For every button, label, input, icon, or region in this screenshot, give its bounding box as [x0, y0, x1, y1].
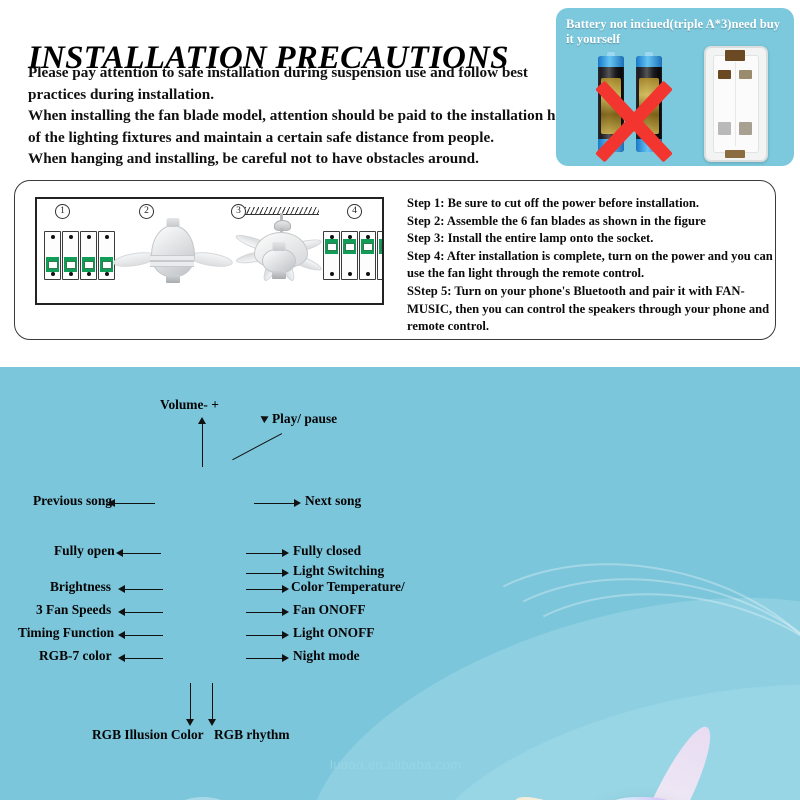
callout-fully-closed: Fully closed	[293, 543, 361, 559]
battery-holder-icon	[704, 46, 768, 162]
callout-volume: Volume- +	[160, 397, 219, 413]
leader-line	[212, 683, 213, 719]
precautions-body: Please pay attention to safe installatio…	[28, 62, 588, 170]
leader-arrow	[198, 417, 206, 424]
circuit-breakers-on-icon	[323, 231, 384, 280]
callout-rgb-rhythm: RGB rhythm	[214, 727, 290, 743]
figure-number: 3	[231, 204, 246, 219]
leader-arrow	[282, 585, 289, 593]
callout-previous-song: Previous song	[33, 493, 112, 509]
leader-arrow	[118, 585, 125, 593]
leader-line	[232, 433, 282, 461]
leader-line	[202, 423, 203, 467]
precaution-line: When installing the fan blade model, att…	[28, 105, 588, 148]
leader-line	[123, 553, 161, 554]
leader-arrow	[282, 654, 289, 662]
leader-line	[246, 635, 284, 636]
leader-arrow	[118, 654, 125, 662]
leader-line	[254, 503, 296, 504]
leader-arrow	[118, 608, 125, 616]
leader-arrow	[108, 499, 115, 507]
leader-arrow	[208, 719, 216, 726]
remote-showcase-section: luoao.en.alibaba.com ▼ ▲ ⏮ ⏭ ⏯	[0, 367, 800, 800]
leader-arrow	[282, 608, 289, 616]
leader-line	[125, 589, 163, 590]
leader-line	[125, 658, 163, 659]
steps-section: 1 2	[0, 172, 800, 367]
steps-text: Step 1: Be sure to cut off the power bef…	[407, 195, 785, 336]
leader-line	[125, 635, 163, 636]
step-item: Step 3: Install the entire lamp onto the…	[407, 230, 785, 248]
step-item: Step 1: Be sure to cut off the power bef…	[407, 195, 785, 213]
callout-fully-open: Fully open	[54, 543, 115, 559]
callout-3-fan-speeds: 3 Fan Speeds	[36, 602, 111, 618]
leader-arrow	[118, 631, 125, 639]
figure-number: 1	[55, 204, 70, 219]
leader-line	[246, 612, 284, 613]
leader-line	[115, 503, 155, 504]
leader-arrow	[282, 631, 289, 639]
steps-frame: 1 2	[14, 180, 776, 340]
callout-rgb-illusion-color: RGB Illusion Color	[92, 727, 204, 743]
leader-line	[246, 553, 284, 554]
callout-brightness: Brightness	[50, 579, 111, 595]
watermark: luoao.en.alibaba.com	[330, 757, 462, 772]
callout-color-temperature: Color Temperature/	[291, 579, 405, 595]
callout-light-switching: Light Switching	[293, 563, 384, 579]
precautions-section: INSTALLATION PRECAUTIONS Please pay atte…	[0, 0, 800, 172]
callout-play-pause: Play/ pause	[272, 411, 337, 427]
step-item: Step 4: After installation is complete, …	[407, 248, 785, 283]
leader-line	[246, 658, 284, 659]
callout-light-onoff: Light ONOFF	[293, 625, 374, 641]
leader-arrow	[116, 549, 123, 557]
assembly-figure: 1 2	[35, 197, 384, 305]
battery-notice-card: Battery not inciued(triple A*3)need buy …	[556, 8, 794, 166]
leader-arrow	[186, 719, 194, 726]
red-cross-icon	[588, 82, 680, 156]
product-image	[455, 739, 800, 800]
callout-rgb-7-color: RGB-7 color	[39, 648, 112, 664]
step-item: SStep 5: Turn on your phone's Bluetooth …	[407, 283, 785, 336]
callout-next-song: Next song	[305, 493, 361, 509]
leader-line	[190, 683, 191, 719]
callout-night-mode: Night mode	[293, 648, 360, 664]
battery-notice-text: Battery not inciued(triple A*3)need buy …	[566, 17, 788, 46]
step-item: Step 2: Assemble the 6 fan blades as sho…	[407, 213, 785, 231]
figure-number: 2	[139, 204, 154, 219]
precaution-line: When hanging and installing, be careful …	[28, 148, 588, 170]
leader-arrow	[294, 499, 301, 507]
leader-line	[246, 589, 284, 590]
leader-line	[125, 612, 163, 613]
leader-arrow	[261, 413, 271, 423]
leader-arrow	[282, 549, 289, 557]
infographic-page: INSTALLATION PRECAUTIONS Please pay atte…	[0, 0, 800, 800]
leader-line	[246, 573, 284, 574]
aaa-battery-icon	[588, 56, 680, 156]
leader-arrow	[282, 569, 289, 577]
precaution-line: Please pay attention to safe installatio…	[28, 62, 588, 105]
callout-timing-function: Timing Function	[18, 625, 114, 641]
callout-fan-onoff: Fan ONOFF	[293, 602, 366, 618]
circuit-breakers-off-icon	[44, 231, 115, 280]
figure-number: 4	[347, 204, 362, 219]
